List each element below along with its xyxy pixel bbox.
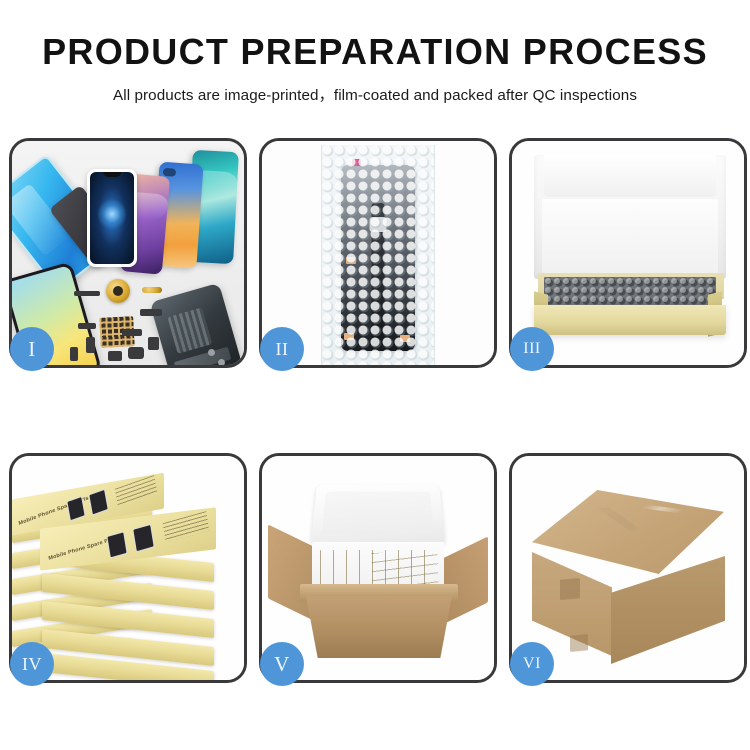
flex-cable-part-icon [142,287,162,293]
inner-box-scene [512,141,744,365]
carton-flap-mark-icon [560,578,580,600]
coil-part-icon [106,279,130,303]
box-spec-lines [115,475,158,506]
page-title: PRODUCT PREPARATION PROCESS [0,0,750,70]
camera-part-icon [128,347,144,359]
phone-parts-scene [12,141,244,365]
bubble-texture-overlay [322,145,434,365]
vibrator-part-icon [148,337,159,350]
step-badge-4: IV [10,642,54,686]
small-flex-part-icon [78,323,96,329]
antenna-part-icon [122,329,142,336]
box-spec-lines [163,511,210,543]
process-step-panel-5[interactable]: V [259,453,497,683]
page-header: PRODUCT PREPARATION PROCESS All products… [0,0,750,125]
box-phone-image-icon [88,489,109,516]
speaker-part-icon [108,351,122,361]
process-step-panel-2[interactable]: II [259,138,497,368]
process-step-grid: I II [9,138,744,683]
foam-cooler-lid-icon [311,485,445,545]
stacked-boxes-scene: Mobile Phone Spare Parts Mobile Phone Sp… [12,456,244,680]
step-1-image [12,141,244,365]
carton-body-icon [306,596,452,658]
step-6-image [512,456,744,680]
process-step-panel-3[interactable]: III [509,138,747,368]
carton-loading-scene [262,456,494,680]
box-phone-image-icon [132,524,155,553]
step-badge-3: III [510,327,554,371]
step-badge-1: I [10,327,54,371]
step-badge-6: VI [510,642,554,686]
carton-flap-mark-icon [570,634,588,652]
box-stack-group: Mobile Phone Spare Parts Mobile Phone Sp… [12,456,244,680]
white-frame-phone-icon [87,169,137,267]
carton-right-face-icon [611,556,725,664]
bubble-wrap-scene [262,141,494,365]
step-badge-2: II [260,327,304,371]
screw-part-icon [208,349,215,356]
step-5-image [262,456,494,680]
step-2-image [262,141,494,365]
phone-notch-icon [103,172,121,177]
connector-part-icon [140,309,162,316]
sim-tray-part-icon [70,347,78,361]
process-step-panel-4[interactable]: Mobile Phone Spare Parts Mobile Phone Sp… [9,453,247,683]
white-foam-sheet-icon [542,199,718,277]
phone-screen-graphic [90,172,134,264]
step-3-image [512,141,744,365]
sealed-carton-scene [512,456,744,680]
step-badge-5: V [260,642,304,686]
box-phone-image-icon [66,496,85,522]
box-front-panel-icon [534,305,726,335]
bar-part-icon [74,291,100,296]
box-phone-image-icon [106,531,127,558]
process-step-panel-6[interactable]: VI [509,453,747,683]
process-step-panel-1[interactable]: I [9,138,247,368]
page-subtitle: All products are image-printed，film-coat… [0,70,750,105]
step-4-image: Mobile Phone Spare Parts Mobile Phone Sp… [12,456,244,680]
bubble-wrap-bag-icon [321,145,435,365]
opened-phone-back-icon [150,283,243,365]
button-part-icon [86,337,95,353]
screw-part-icon [218,359,225,365]
